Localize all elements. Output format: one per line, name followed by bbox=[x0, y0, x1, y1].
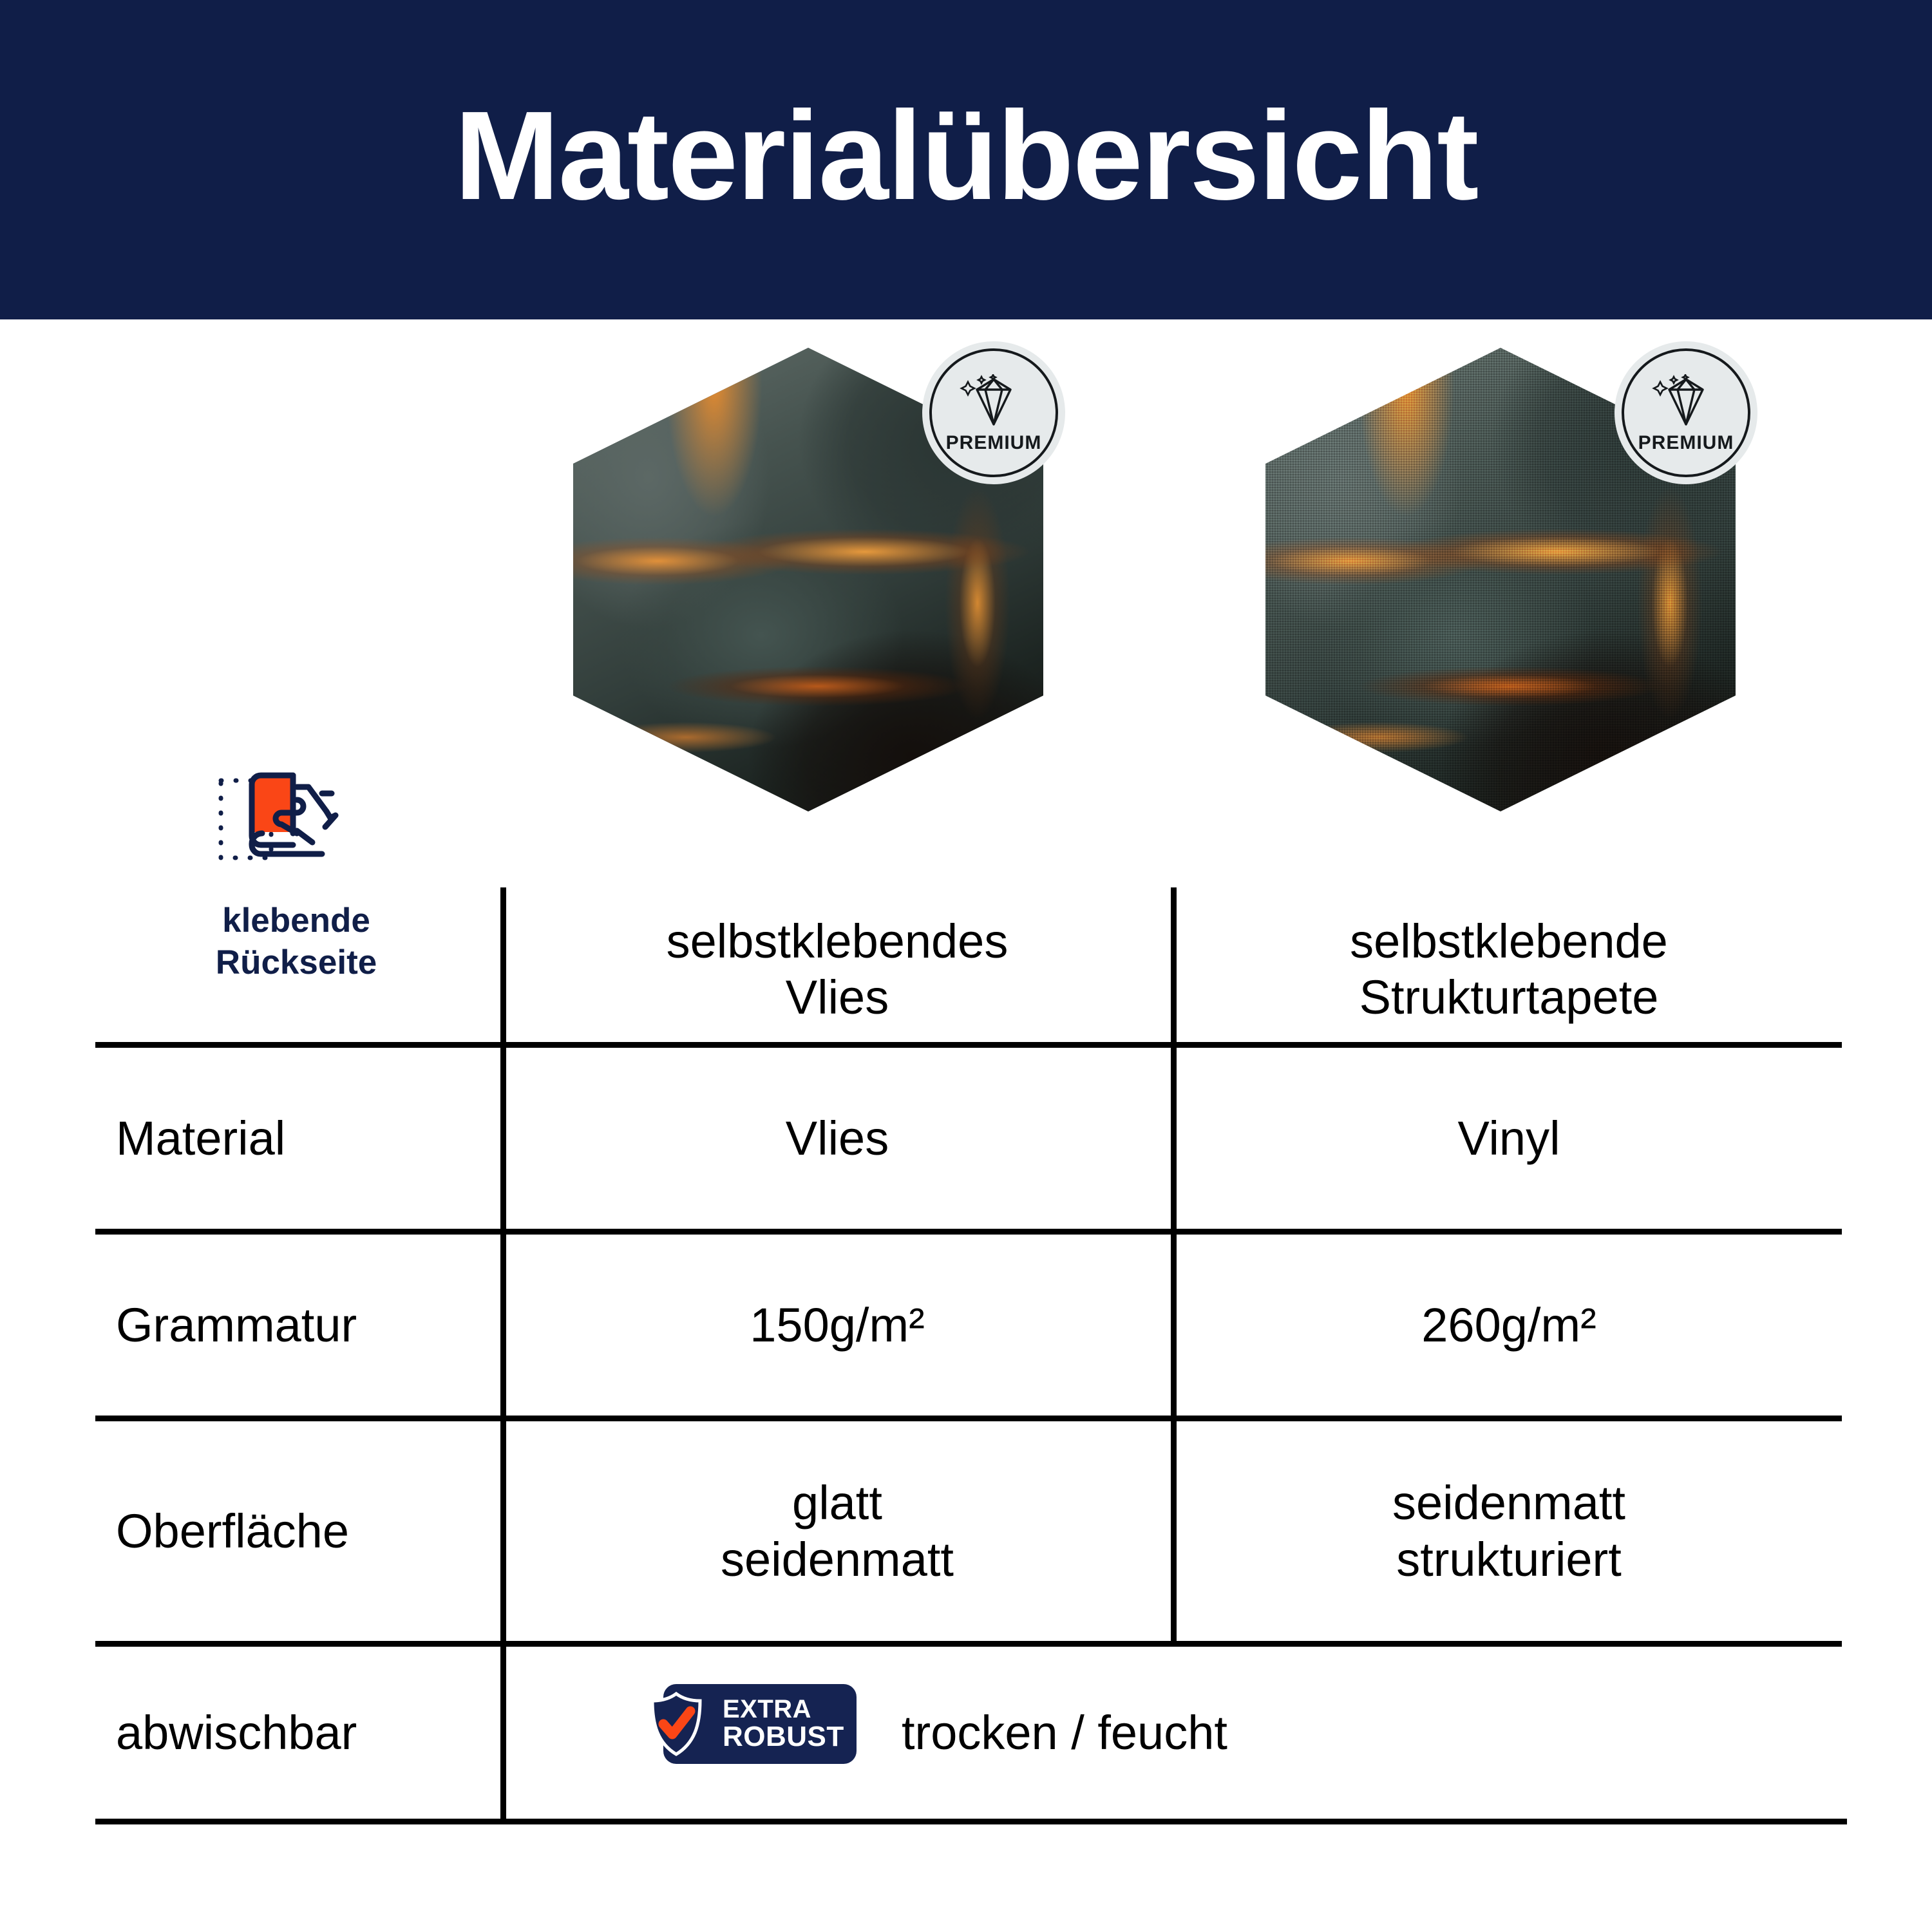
cell-abwischbar-value: trocken / feucht bbox=[902, 1647, 1417, 1819]
cell-oberflaeche-col2-line2: strukturiert bbox=[1396, 1533, 1622, 1586]
row-label-material: Material bbox=[116, 1048, 496, 1229]
diamond-icon bbox=[959, 374, 1028, 430]
cell-oberflaeche-col2-line1: seidenmatt bbox=[1392, 1476, 1625, 1529]
cell-material-col2: Vinyl bbox=[1179, 1048, 1839, 1229]
cell-oberflaeche-col1-line2: seidenmatt bbox=[721, 1533, 954, 1586]
table-divider-1 bbox=[500, 887, 506, 1821]
cell-grammatur-col1: 150g/m² bbox=[509, 1235, 1166, 1416]
table-rule-3 bbox=[95, 1416, 1842, 1421]
extra-robust-line2: ROBUST bbox=[723, 1723, 844, 1752]
extra-robust-badge: EXTRA ROBUST bbox=[663, 1684, 857, 1764]
table-divider-2 bbox=[1171, 887, 1177, 1644]
shield-check-icon bbox=[649, 1692, 703, 1756]
premium-badge-1: PREMIUM bbox=[922, 341, 1065, 484]
cell-oberflaeche-col1-line1: glatt bbox=[792, 1476, 882, 1529]
table-rule-2 bbox=[95, 1229, 1842, 1235]
material-comparison-table: selbstklebendes Vlies selbstklebende Str… bbox=[0, 0, 1932, 1932]
row-label-grammatur: Grammatur bbox=[116, 1235, 496, 1416]
row-label-oberflaeche: Oberfläche bbox=[116, 1421, 496, 1641]
cell-material-col1: Vlies bbox=[509, 1048, 1166, 1229]
column-header-2-line2: Strukturtapete bbox=[1359, 971, 1659, 1024]
cell-oberflaeche-col2: seidenmatt strukturiert bbox=[1179, 1421, 1839, 1641]
cell-grammatur-col2: 260g/m² bbox=[1179, 1235, 1839, 1416]
column-header-1-line2: Vlies bbox=[786, 971, 889, 1024]
table-rule-4 bbox=[95, 1641, 1842, 1647]
premium-badge-label: PREMIUM bbox=[946, 432, 1042, 454]
extra-robust-line1: EXTRA bbox=[723, 1696, 844, 1723]
row-label-abwischbar: abwischbar bbox=[116, 1647, 496, 1819]
column-header-2-line1: selbstklebende bbox=[1350, 914, 1668, 968]
diamond-icon bbox=[1651, 374, 1721, 430]
column-header-1-line1: selbstklebendes bbox=[667, 914, 1009, 968]
table-rule-1 bbox=[95, 1042, 1842, 1048]
cell-oberflaeche-col1: glatt seidenmatt bbox=[509, 1421, 1166, 1641]
table-rule-5 bbox=[95, 1819, 1847, 1824]
premium-badge-label: PREMIUM bbox=[1638, 432, 1734, 454]
premium-badge-2: PREMIUM bbox=[1615, 341, 1757, 484]
column-header-2: selbstklebende Strukturtapete bbox=[1179, 898, 1839, 1040]
column-header-1: selbstklebendes Vlies bbox=[509, 898, 1166, 1040]
